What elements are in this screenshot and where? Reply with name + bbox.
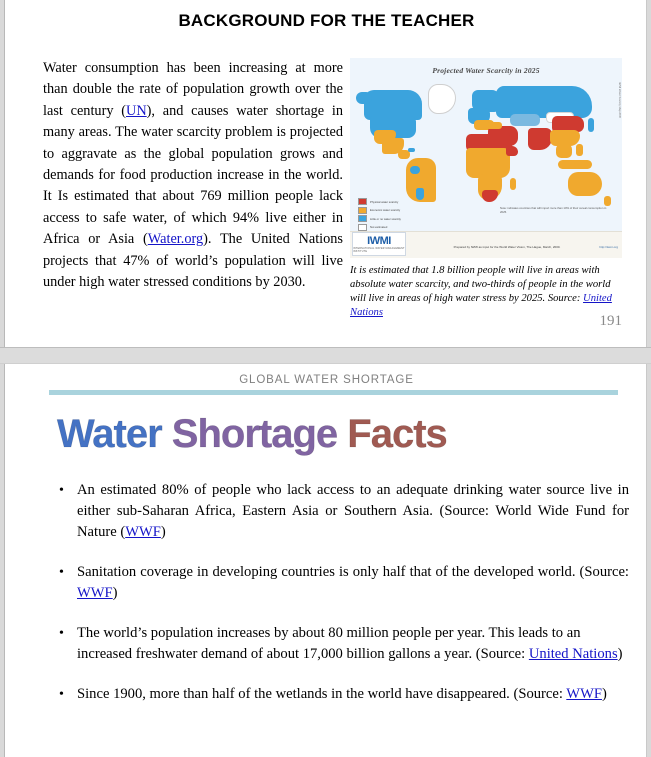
wordart-word-shortage: Shortage <box>172 412 337 456</box>
link-wwf[interactable]: WWF <box>125 524 161 540</box>
map-region-greenland <box>428 84 456 114</box>
map-legend: Physical water scarcity Economic water s… <box>358 198 422 232</box>
map-region-india <box>528 128 552 150</box>
map-region-madagascar <box>510 178 516 190</box>
map-side-note: IWMI Water Scarcity Map 2000 <box>618 82 621 118</box>
map-region-alaska <box>356 92 372 104</box>
bullet-text-end: ) <box>161 524 166 540</box>
list-item: • An estimated 80% of people who lack ac… <box>49 480 629 543</box>
map-footer: IWMI INTERNATIONAL WATER MANAGEMENT INST… <box>350 231 622 258</box>
page-global-water-shortage: GLOBAL WATER SHORTAGE Water Shortage Fac… <box>4 364 647 757</box>
map-region-russia <box>496 86 592 118</box>
wordart-word-facts: Facts <box>347 412 447 456</box>
list-item: • The world’s population increases by ab… <box>49 623 629 665</box>
link-water-org[interactable]: Water.org <box>148 231 203 247</box>
legend-swatch-physical-scarcity <box>358 198 367 205</box>
legend-label: Not estimated <box>370 225 387 229</box>
map-region-philippines <box>576 144 583 156</box>
page-number: 191 <box>600 313 623 330</box>
iwmi-logo-subtext: INTERNATIONAL WATER MANAGEMENT INSTITUTE <box>353 247 405 253</box>
header-divider <box>49 390 618 395</box>
map-note: Note: indicates countries that will impo… <box>500 206 610 214</box>
link-united-nations[interactable]: United Nations <box>529 646 618 662</box>
legend-label: Physical water scarcity <box>370 200 398 204</box>
map-region-australia <box>568 172 602 196</box>
bullet-text-end: ) <box>113 585 118 601</box>
paragraph-text-2: ), and causes water shortage in many are… <box>43 103 343 247</box>
map-region-horn-of-africa <box>506 146 518 156</box>
legend-swatch-economic-scarcity <box>358 207 367 214</box>
caption-text: It is estimated that 1.8 billion people … <box>350 265 611 304</box>
facts-bullet-list: • An estimated 80% of people who lack ac… <box>49 480 629 724</box>
legend-swatch-not-estimated <box>358 224 367 231</box>
map-region-south-africa <box>482 190 498 202</box>
page-title: BACKGROUND FOR THE TEACHER <box>5 11 648 31</box>
bullet-marker-icon: • <box>59 480 64 501</box>
figure-caption: It is estimated that 1.8 billion people … <box>350 264 622 320</box>
map-region-new-zealand <box>604 196 611 206</box>
bullet-text: Since 1900, more than half of the wetlan… <box>77 686 566 702</box>
map-region-japan <box>588 118 594 132</box>
legend-label: Economic water scarcity <box>370 208 400 212</box>
list-item: • Since 1900, more than half of the wetl… <box>49 684 629 705</box>
iwmi-logo-text: IWMI <box>367 236 391 247</box>
iwmi-logo: IWMI INTERNATIONAL WATER MANAGEMENT INST… <box>352 232 406 256</box>
bullet-marker-icon: • <box>59 684 64 705</box>
wordart-title: Water Shortage Facts <box>57 410 447 458</box>
water-scarcity-map-figure: Projected Water Scarcity in 2025 <box>350 58 622 258</box>
slide-header: GLOBAL WATER SHORTAGE <box>5 374 648 386</box>
map-credit: Prepared by IWMI as input for the World … <box>432 245 582 249</box>
legend-item: Economic water scarcity <box>358 207 422 214</box>
bullet-text-end: ) <box>618 646 623 662</box>
map-title: Projected Water Scarcity in 2025 <box>350 66 622 75</box>
map-region-southeast-asia <box>556 144 572 158</box>
map-url: http://iwmi.org <box>599 245 618 249</box>
legend-item: Not estimated <box>358 224 422 231</box>
list-item: • Sanitation coverage in developing coun… <box>49 562 629 604</box>
bullet-marker-icon: • <box>59 562 64 583</box>
map-canvas: Physical water scarcity Economic water s… <box>350 76 622 224</box>
legend-swatch-little-or-no-scarcity <box>358 215 367 222</box>
legend-label: Little or no water scarcity <box>370 217 401 221</box>
map-region-amazon-basin <box>410 166 420 174</box>
legend-item: Little or no water scarcity <box>358 215 422 222</box>
link-wwf[interactable]: WWF <box>566 686 602 702</box>
document-viewer: BACKGROUND FOR THE TEACHER Water consump… <box>0 0 651 757</box>
map-region-central-asia <box>510 114 540 126</box>
link-un[interactable]: UN <box>126 103 147 119</box>
map-region-indonesia <box>558 160 592 169</box>
map-region-turkey <box>486 122 502 129</box>
bullet-marker-icon: • <box>59 623 64 644</box>
bullet-text: The world’s population increases by abou… <box>77 625 581 662</box>
wordart-word-water: Water <box>57 412 162 456</box>
page-separator <box>0 347 651 364</box>
map-region-caribbean <box>408 148 415 152</box>
body-paragraph: Water consumption has been increasing at… <box>43 58 343 293</box>
page-background-for-the-teacher: BACKGROUND FOR THE TEACHER Water consump… <box>4 0 647 347</box>
link-wwf[interactable]: WWF <box>77 585 113 601</box>
bullet-text: Sanitation coverage in developing countr… <box>77 564 629 580</box>
legend-item: Physical water scarcity <box>358 198 422 205</box>
bullet-text-end: ) <box>602 686 607 702</box>
